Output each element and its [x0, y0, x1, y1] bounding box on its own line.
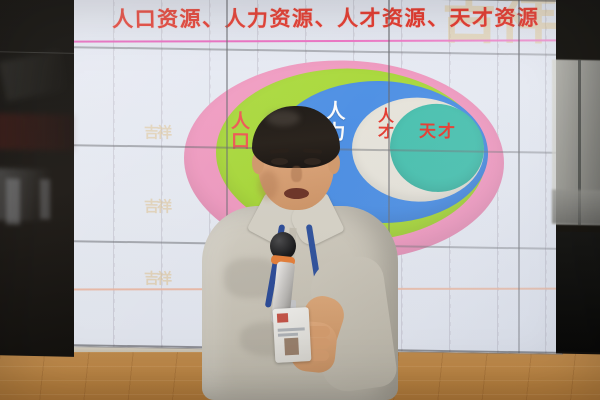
speaker-figure — [196, 108, 406, 400]
watermark-small-1: 吉祥 — [144, 125, 170, 140]
left-dark-panel — [0, 0, 74, 357]
right-panel-gloss — [556, 232, 600, 353]
left-panel-seam — [0, 51, 74, 54]
left-panel-reflection-mullion-1 — [6, 178, 20, 224]
right-panel-windowsill-reflection — [552, 189, 600, 224]
hair-highlight — [266, 110, 300, 126]
cheek-shadow — [258, 170, 278, 200]
badge-line-2 — [278, 333, 298, 337]
left-panel-reflection-ceiling — [0, 50, 67, 101]
slide-title: 人口资源、人力资源、人才资源、天才资源 — [112, 2, 562, 34]
badge-emblem — [277, 313, 288, 323]
left-panel-reflection-red — [0, 113, 74, 151]
left-panel-reflection-mullion-2 — [40, 179, 50, 219]
badge-line-1 — [278, 327, 305, 331]
nose — [291, 166, 302, 182]
eye-left — [271, 158, 288, 165]
watermark-small-3: 吉祥 — [144, 271, 170, 286]
screenshot-root: 吉祥 吉祥 吉祥 吉祥 吉祥 吉祥 人口资源、人力资源、人才资源、天才资源 人口… — [0, 0, 600, 400]
right-dark-panel — [556, 0, 600, 354]
watermark-small-2: 吉祥 — [144, 199, 170, 214]
badge-photo — [284, 338, 299, 356]
eye-right — [304, 158, 321, 165]
ellipse-label-genius: 天才 — [402, 123, 474, 141]
id-badge — [273, 307, 312, 363]
mouth — [284, 188, 309, 199]
